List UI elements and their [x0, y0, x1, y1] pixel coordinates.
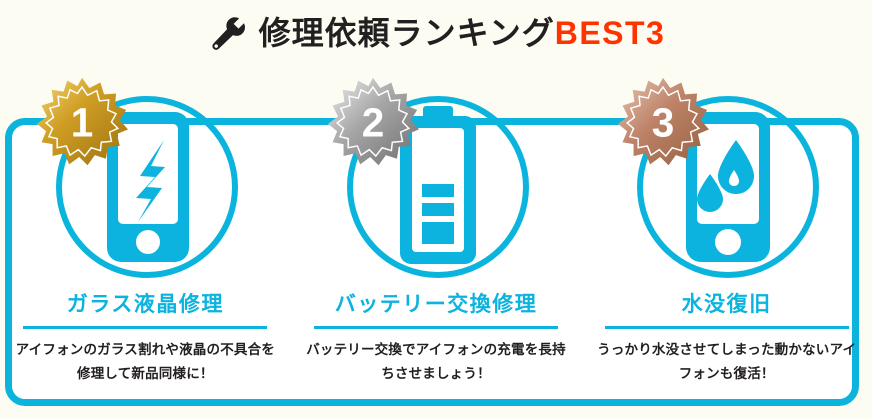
rank-number: 3 [652, 100, 675, 146]
page-title: 修理依頼ランキングBEST3 [259, 17, 666, 49]
page-title-main: 修理依頼ランキング [259, 15, 555, 51]
page-header: 修理依頼ランキングBEST3 [0, 0, 872, 66]
card-description-3: うっかり水没させてしまった動かないアイフォンも復活！ [596, 338, 858, 385]
rank-number: 1 [71, 100, 94, 146]
rank-badge-silver: 2 [327, 76, 419, 168]
card-title-2: バッテリー交換修理 [291, 294, 582, 315]
card-divider-3 [605, 326, 849, 329]
rank-badge-bronze: 3 [617, 76, 709, 168]
card-description-2: バッテリー交換でアイフォンの充電を長持ちさせましょう！ [305, 338, 567, 385]
card-divider-2 [314, 326, 558, 329]
rank-number: 2 [361, 100, 384, 146]
rank-badge-gold: 1 [36, 76, 128, 168]
card-title-3: 水没復旧 [581, 294, 872, 315]
page-title-accent: BEST3 [555, 15, 666, 51]
wrench-icon [207, 13, 249, 55]
card-title-1: ガラス液晶修理 [0, 294, 291, 315]
card-description-1: アイフォンのガラス割れや液晶の不具合を修理して新品同様に！ [14, 338, 276, 385]
card-divider-1 [23, 326, 267, 329]
